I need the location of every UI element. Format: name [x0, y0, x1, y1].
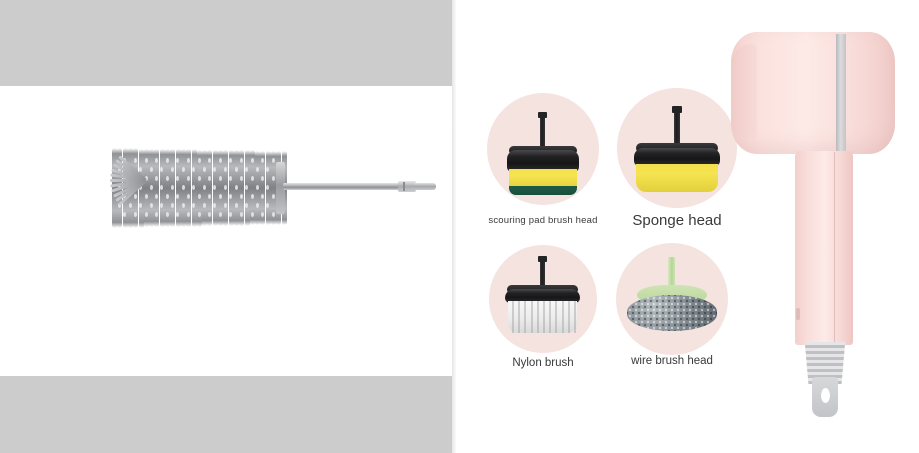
bristle-highlight: [240, 194, 243, 199]
bristle-highlight: [251, 194, 254, 199]
right-product-panel: scouring pad brush head Sponge head Nylo…: [456, 0, 919, 453]
bristle-highlight: [240, 176, 243, 181]
bristle-highlight: [198, 176, 201, 181]
bristle-highlight: [240, 212, 243, 217]
bristle-highlight: [203, 185, 206, 190]
bristle-highlight: [256, 185, 259, 190]
bristle-highlight: [171, 203, 174, 208]
bristle-highlight: [134, 212, 137, 217]
bristle-highlight: [166, 212, 169, 217]
device-head-bevel: [731, 44, 757, 142]
bristle-highlight: [171, 185, 174, 190]
device-power-button[interactable]: [796, 308, 800, 320]
device-handle-seam: [834, 152, 835, 344]
bristle-highlight: [182, 185, 185, 190]
bristle-highlight: [251, 212, 254, 217]
bristle-highlight: [166, 176, 169, 181]
bottle-brush-attachment: [80, 140, 425, 235]
bristle-highlight: [187, 176, 190, 181]
bristle-highlight: [171, 167, 174, 172]
bristle-highlight: [145, 194, 148, 199]
bristle-highlight: [224, 185, 227, 190]
bristle-highlight: [187, 212, 190, 217]
product-image-canvas: scouring pad brush head Sponge head Nylo…: [0, 0, 919, 453]
bristle-highlight: [182, 167, 185, 172]
bristle-highlight: [219, 194, 222, 199]
bristle-highlight: [272, 158, 275, 163]
device-accent-stripe: [836, 34, 846, 152]
bristle-highlight: [251, 158, 254, 163]
device-hanging-hole: [821, 388, 830, 403]
bristle-highlight: [240, 158, 243, 163]
bristle-highlight: [251, 176, 254, 181]
top-gray-band: [0, 0, 453, 86]
device-handle: [795, 151, 853, 345]
bristle-highlight: [150, 203, 153, 208]
bristle-highlight: [134, 194, 137, 199]
bristle-highlight: [145, 212, 148, 217]
bristle-highlight: [198, 158, 201, 163]
bristle-highlight: [235, 203, 238, 208]
bristle-highlight: [272, 194, 275, 199]
bristle-highlight: [145, 158, 148, 163]
bristle-highlight: [150, 185, 153, 190]
bristle-highlight: [187, 158, 190, 163]
bristle-highlight: [235, 167, 238, 172]
bristle-highlight: [198, 194, 201, 199]
bristle-highlight: [203, 167, 206, 172]
handheld-cleaning-device: [456, 0, 919, 453]
left-product-panel: [0, 0, 453, 453]
bristle-highlight: [198, 212, 201, 217]
bristle-highlight: [256, 167, 259, 172]
bottom-gray-band: [0, 376, 453, 453]
bristle-highlight: [129, 203, 132, 208]
bristle-highlight: [235, 185, 238, 190]
brush-shaft-notch: [403, 182, 405, 191]
bristle-highlight: [272, 212, 275, 217]
bristle-highlight: [272, 176, 275, 181]
bristle-highlight: [187, 194, 190, 199]
brush-shaft: [283, 183, 401, 190]
bristle-highlight: [166, 158, 169, 163]
bristle-highlight: [219, 158, 222, 163]
bristle-highlight: [134, 158, 137, 163]
bristle-highlight: [203, 203, 206, 208]
bristle-highlight: [182, 203, 185, 208]
bristle-highlight: [224, 167, 227, 172]
bristle-highlight: [150, 167, 153, 172]
bristle-highlight: [166, 194, 169, 199]
bristle-highlight: [219, 212, 222, 217]
brush-connector-tip: [414, 183, 436, 190]
bristle-highlight: [219, 176, 222, 181]
bristle-highlight: [256, 203, 259, 208]
bristle-highlight: [224, 203, 227, 208]
